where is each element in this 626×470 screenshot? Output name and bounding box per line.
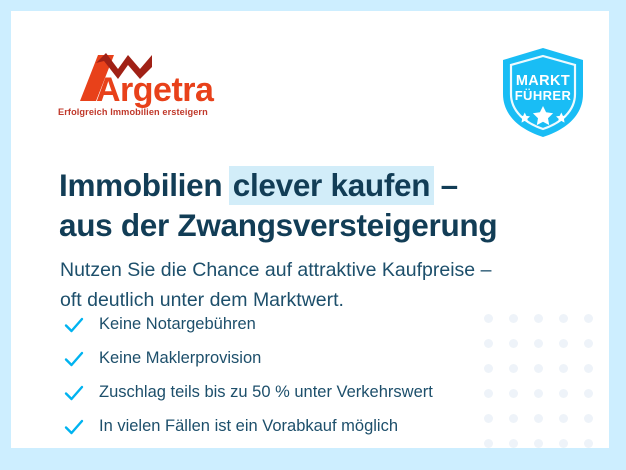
subheadline: Nutzen Sie die Chance auf attraktive Kau… xyxy=(60,255,491,315)
decor-dot xyxy=(559,314,568,323)
benefit-label: Keine Notargebühren xyxy=(99,316,256,333)
decor-dot xyxy=(584,389,593,398)
decor-dot xyxy=(559,439,568,448)
decor-dot xyxy=(534,314,543,323)
dot-pattern-decoration xyxy=(476,306,601,448)
promo-banner: Argetra Erfolgreich Immobilien ersteiger… xyxy=(0,0,626,470)
headline-line-1: Immobilien clever kaufen – xyxy=(59,165,497,205)
headline-highlight: clever kaufen xyxy=(229,166,434,205)
decor-dot xyxy=(484,414,493,423)
decor-dot xyxy=(509,439,518,448)
decor-dot xyxy=(534,339,543,348)
decor-dot xyxy=(559,414,568,423)
decor-dot xyxy=(534,389,543,398)
benefit-label: In vielen Fällen ist ein Vorabkauf mögli… xyxy=(99,418,398,435)
decor-dot xyxy=(584,314,593,323)
market-leader-badge: MARKT FÜHRER xyxy=(495,44,591,140)
decor-dot xyxy=(484,339,493,348)
svg-text:MARKT: MARKT xyxy=(516,73,570,89)
decor-dot xyxy=(484,439,493,448)
decor-dot xyxy=(509,364,518,373)
benefits-list: Keine Notargebühren Keine Maklerprovisio… xyxy=(63,309,433,445)
check-icon xyxy=(63,416,85,438)
decor-dot xyxy=(484,389,493,398)
benefit-label: Keine Maklerprovision xyxy=(99,350,261,367)
decor-dot xyxy=(534,439,543,448)
list-item: Keine Notargebühren xyxy=(63,309,433,340)
benefit-label: Zuschlag teils bis zu 50 % unter Verkehr… xyxy=(99,384,433,401)
decor-dot xyxy=(484,364,493,373)
svg-text:FÜHRER: FÜHRER xyxy=(515,88,572,103)
svg-text:Erfolgreich Immobilien ersteig: Erfolgreich Immobilien ersteigern xyxy=(58,107,208,117)
decor-dot xyxy=(584,339,593,348)
decor-dot xyxy=(559,389,568,398)
decor-dot xyxy=(584,364,593,373)
list-item: In vielen Fällen ist ein Vorabkauf mögli… xyxy=(63,411,433,442)
decor-dot xyxy=(559,364,568,373)
decor-dot xyxy=(534,364,543,373)
decor-dot xyxy=(484,314,493,323)
banner-card: Argetra Erfolgreich Immobilien ersteiger… xyxy=(11,11,609,448)
argetra-logo: Argetra Erfolgreich Immobilien ersteiger… xyxy=(56,49,236,121)
check-icon xyxy=(63,348,85,370)
check-icon xyxy=(63,314,85,336)
decor-dot xyxy=(509,314,518,323)
list-item: Keine Maklerprovision xyxy=(63,343,433,374)
headline-suffix: – xyxy=(432,167,458,203)
svg-text:Argetra: Argetra xyxy=(96,71,215,109)
headline-line-2: aus der Zwangsversteigerung xyxy=(59,205,497,245)
subheadline-line-1: Nutzen Sie die Chance auf attraktive Kau… xyxy=(60,255,491,285)
decor-dot xyxy=(584,414,593,423)
decor-dot xyxy=(509,339,518,348)
headline: Immobilien clever kaufen – aus der Zwang… xyxy=(59,165,497,245)
decor-dot xyxy=(509,389,518,398)
decor-dot xyxy=(509,414,518,423)
decor-dot xyxy=(584,439,593,448)
decor-dot xyxy=(534,414,543,423)
list-item: Zuschlag teils bis zu 50 % unter Verkehr… xyxy=(63,377,433,408)
decor-dot xyxy=(559,339,568,348)
check-icon xyxy=(63,382,85,404)
headline-prefix: Immobilien xyxy=(59,167,231,203)
